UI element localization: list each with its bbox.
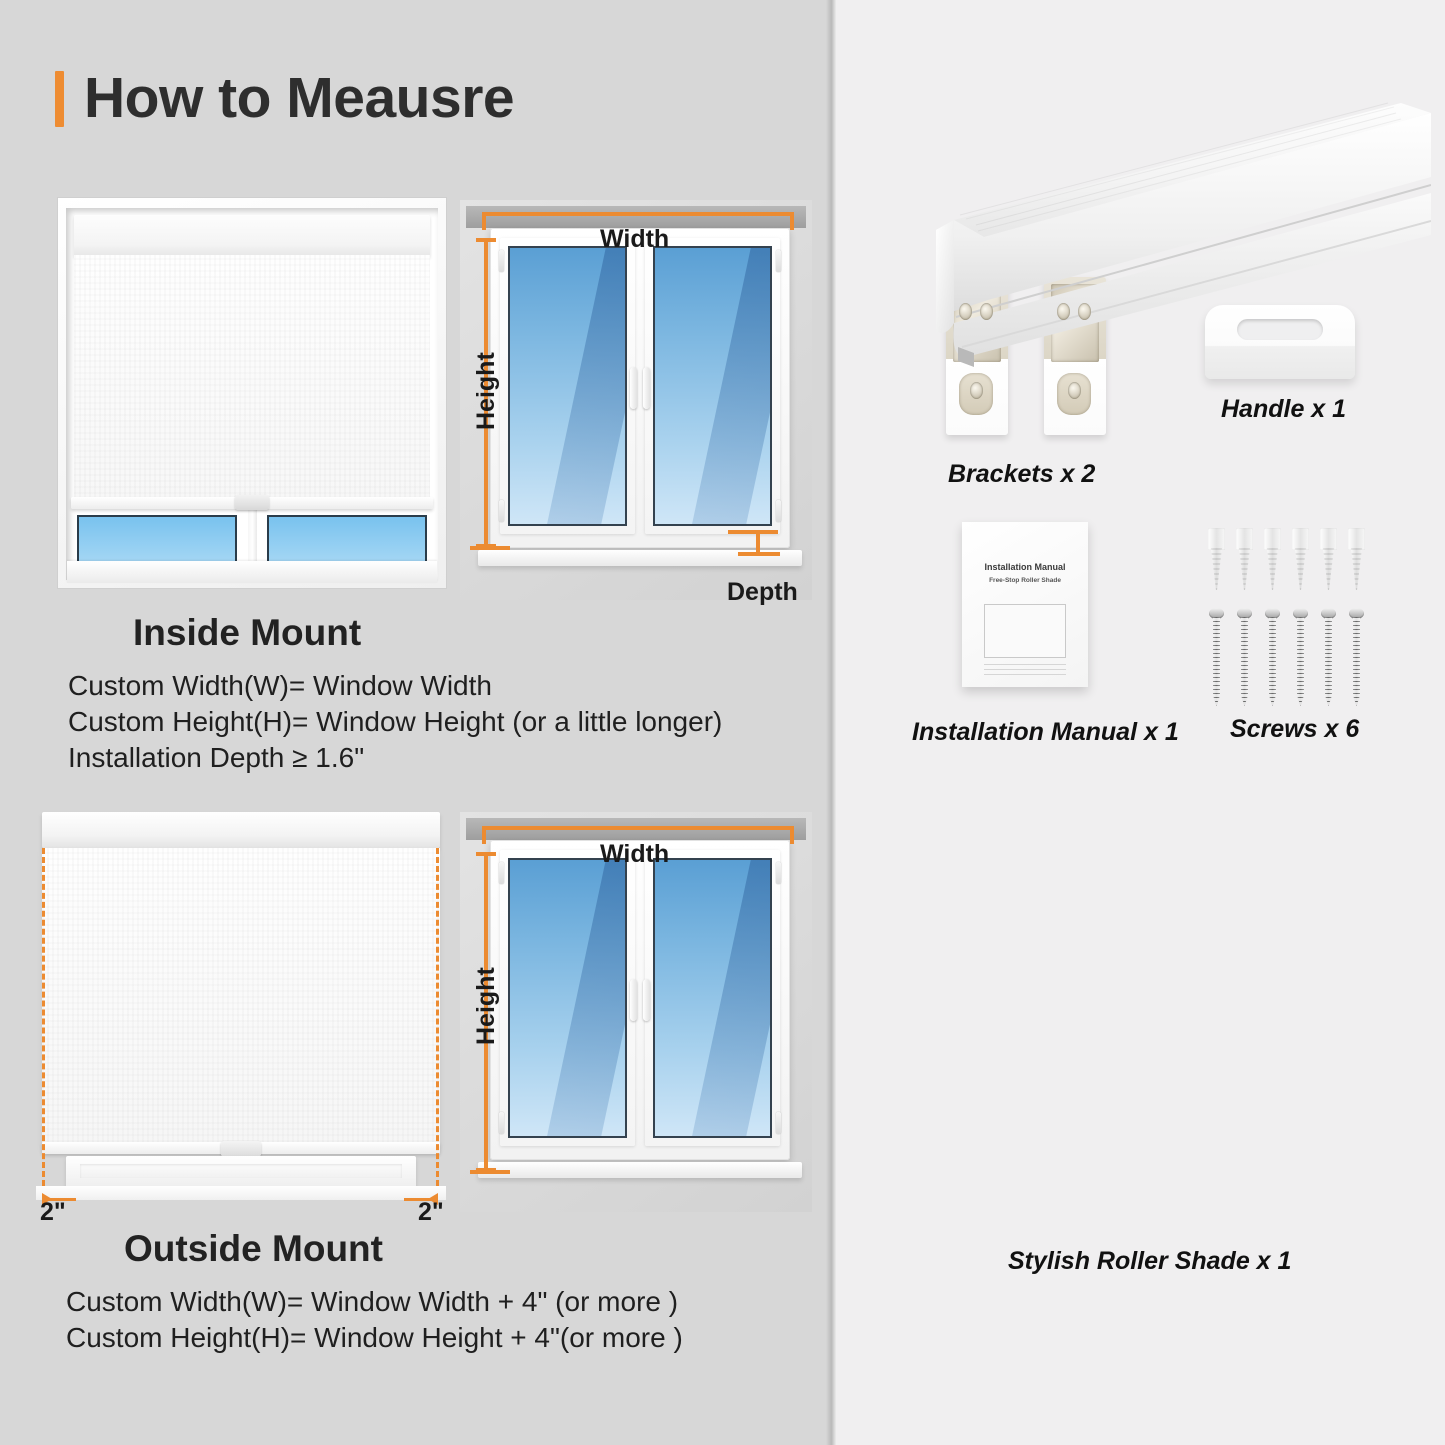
- outside-mount-spec-2: Custom Height(H)= Window Height + 4"(or …: [66, 1322, 683, 1354]
- label-overhang-left: 2": [40, 1198, 66, 1227]
- anchor-body: [1351, 548, 1362, 590]
- handle-label: Handle x 1: [1221, 395, 1346, 424]
- manual-cover-text-lines: [984, 661, 1066, 675]
- height-guide-base: [470, 546, 510, 550]
- how-to-measure-heading: How to Meausre: [55, 70, 514, 127]
- screw-5: [1321, 608, 1336, 706]
- window-frame: [490, 840, 790, 1160]
- screws-label: Screws x 6: [1230, 715, 1359, 744]
- window-sill: [66, 1156, 416, 1190]
- anchor-body: [1239, 548, 1250, 590]
- how-to-measure-panel: How to Meausre: [0, 0, 836, 1445]
- window-glass-right: [653, 858, 772, 1138]
- window-handles: [630, 367, 650, 409]
- wall-anchor-4: [1292, 528, 1309, 590]
- roller-shade-product-image: [896, 85, 1431, 385]
- inside-mount-spec-3: Installation Depth ≥ 1.6": [68, 742, 364, 774]
- manual-cover-image: [984, 604, 1066, 658]
- outside-mount-shade-illustration: [36, 812, 446, 1210]
- depth-guide-top: [728, 530, 778, 534]
- inside-mount-window-diagram: [460, 200, 812, 600]
- window-sash-left: [500, 850, 635, 1146]
- window-hinge-bottom-left: [499, 500, 504, 522]
- width-guide-cap-left: [482, 826, 486, 844]
- accent-bar-icon: [55, 71, 64, 127]
- window-glass-left: [77, 515, 237, 563]
- screw-1: [1209, 608, 1224, 706]
- window-handle-left: [630, 979, 637, 1021]
- anchor-head: [1348, 528, 1365, 550]
- window-handle-right: [643, 367, 650, 409]
- window-glass-row: [77, 515, 427, 563]
- window-sill: [67, 561, 437, 583]
- width-guide-cap-right: [790, 212, 794, 230]
- overhang-guide-right: [436, 848, 439, 1186]
- anchor-body: [1295, 548, 1306, 590]
- package-contents-panel: What's in the package Brackets x 2 Handl…: [836, 0, 1445, 1445]
- window-frame: [490, 228, 790, 548]
- manual-cover-title: Installation Manual: [962, 562, 1088, 572]
- screw-shaft: [1213, 617, 1220, 706]
- window-hinge-bottom-right: [776, 1112, 781, 1134]
- window-handle-left: [630, 367, 637, 409]
- window-hinge-top-left: [499, 250, 504, 272]
- window-glass-left: [508, 246, 627, 526]
- anchor-head: [1208, 528, 1225, 550]
- bracket-hole-c: [970, 382, 983, 399]
- width-guide-cap-right: [790, 826, 794, 844]
- label-depth-inside: Depth: [727, 578, 798, 607]
- outside-mount-title: Outside Mount: [124, 1228, 383, 1270]
- anchor-body: [1323, 548, 1334, 590]
- anchor-head: [1292, 528, 1309, 550]
- width-guide-line: [482, 826, 794, 830]
- wall-anchor-2: [1236, 528, 1253, 590]
- shade-headrail: [42, 812, 440, 848]
- screw-shaft: [1353, 617, 1360, 706]
- screw-4: [1293, 608, 1308, 706]
- window-sill-inner: [80, 1164, 402, 1178]
- label-height-inside: Height: [472, 352, 501, 430]
- brackets-label: Brackets x 2: [948, 460, 1095, 489]
- shade-pull-handle: [235, 495, 269, 510]
- anchor-body: [1211, 548, 1222, 590]
- label-overhang-right: 2": [418, 1198, 444, 1227]
- window-hinge-bottom-left: [499, 1112, 504, 1134]
- window-sash-left: [500, 238, 635, 534]
- bracket-hole-b: [980, 303, 993, 320]
- outside-mount-spec-1: Custom Width(W)= Window Width + 4" (or m…: [66, 1286, 678, 1318]
- window-glass-right: [653, 246, 772, 526]
- wall-base: [36, 1186, 446, 1200]
- manual-cover-subtitle: Free-Stop Roller Shade: [962, 577, 1088, 584]
- anchor-head: [1264, 528, 1281, 550]
- window-glass-right: [267, 515, 427, 563]
- screw-shaft: [1297, 617, 1304, 706]
- width-guide-cap-left: [482, 212, 486, 230]
- depth-guide-connector: [756, 530, 760, 552]
- screw-shaft: [1241, 617, 1248, 706]
- depth-guide-bottom: [738, 552, 780, 556]
- bracket-hole-c: [1068, 382, 1081, 399]
- window-sill: [478, 1162, 802, 1178]
- window-glass-left: [508, 858, 627, 1138]
- how-to-measure-title: How to Meausre: [84, 70, 514, 127]
- height-guide-base: [470, 1170, 510, 1174]
- shade-headrail: [74, 215, 430, 257]
- window-hinge-top-right: [776, 862, 781, 884]
- screw-3: [1265, 608, 1280, 706]
- inside-mount-spec-1: Custom Width(W)= Window Width: [68, 670, 492, 702]
- screw-2: [1237, 608, 1252, 706]
- anchor-head: [1320, 528, 1337, 550]
- inside-mount-shade-illustration: [57, 197, 447, 589]
- window-sash-right: [645, 238, 780, 534]
- shade-fabric: [42, 848, 440, 1148]
- infographic-page: How to Meausre: [0, 0, 1445, 1445]
- height-guide-cap-top: [476, 852, 496, 856]
- wall-anchor-3: [1264, 528, 1281, 590]
- window-hinge-top-left: [499, 862, 504, 884]
- label-width-inside: Width: [600, 225, 669, 254]
- window-handles: [630, 979, 650, 1021]
- inside-mount-spec-2: Custom Height(H)= Window Height (or a li…: [68, 706, 722, 738]
- height-guide-cap-top: [476, 238, 496, 242]
- outside-mount-window-diagram: [460, 812, 812, 1212]
- bracket-hole-a: [959, 303, 972, 320]
- roller-shade-label: Stylish Roller Shade x 1: [1008, 1247, 1291, 1276]
- label-height-outside: Height: [472, 967, 501, 1045]
- shade-pull-handle: [221, 1141, 261, 1157]
- shade-fabric: [74, 255, 430, 500]
- width-guide-line: [482, 212, 794, 216]
- installation-manual-item: Installation Manual Free-Stop Roller Sha…: [962, 522, 1088, 687]
- window-sash-right: [645, 850, 780, 1146]
- wall-anchor-5: [1320, 528, 1337, 590]
- bracket-hole-b: [1078, 303, 1091, 320]
- anchor-head: [1236, 528, 1253, 550]
- shade-end-cap-round: [936, 220, 954, 333]
- screw-shaft: [1269, 617, 1276, 706]
- wall-anchor-6: [1348, 528, 1365, 590]
- wall-anchor-1: [1208, 528, 1225, 590]
- screw-6: [1349, 608, 1364, 706]
- manual-label: Installation Manual x 1: [912, 718, 1179, 747]
- overhang-guide-left: [42, 848, 45, 1186]
- inside-mount-title: Inside Mount: [133, 612, 361, 654]
- anchor-body: [1267, 548, 1278, 590]
- bracket-hole-a: [1057, 303, 1070, 320]
- window-handle-right: [643, 979, 650, 1021]
- window-hinge-bottom-right: [776, 500, 781, 522]
- screw-shaft: [1325, 617, 1332, 706]
- window-hinge-top-right: [776, 250, 781, 272]
- label-width-outside: Width: [600, 840, 669, 869]
